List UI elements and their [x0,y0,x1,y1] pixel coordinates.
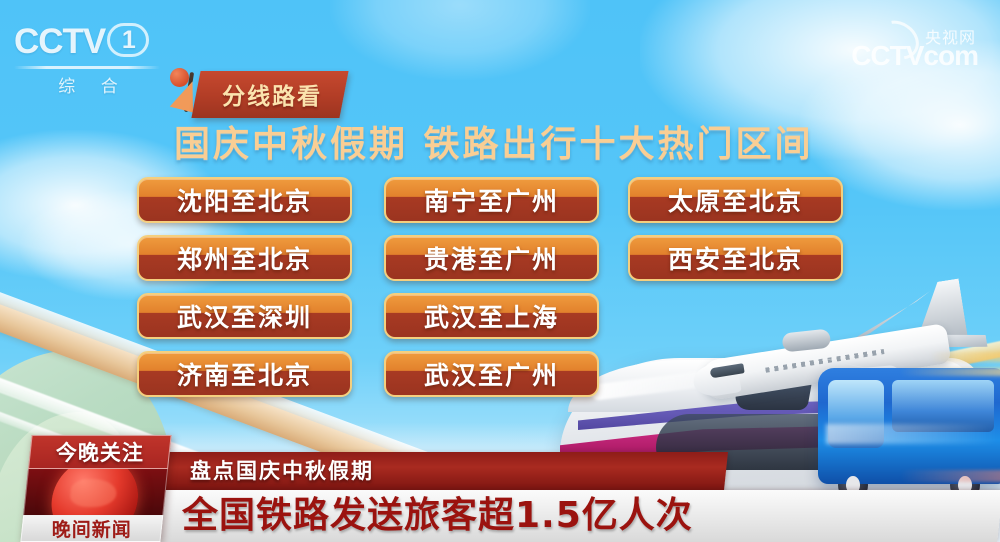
route-pill-8[interactable]: 武汉至上海 [384,293,599,339]
route-pill-1[interactable]: 沈阳至北京 [137,177,352,223]
route-label: 西安至北京 [668,240,803,276]
program-tag: 今晚关注 [28,435,172,469]
lower-third-subhead-bar: 盘点国庆中秋假期 [164,452,728,490]
route-pill-4[interactable]: 郑州至北京 [137,235,352,281]
program-name-label: 晚间新闻 [52,515,132,542]
cctv1-channel-logo: CCTV1 综 合 [14,22,164,88]
logo-underline [14,66,160,69]
route-pill-7[interactable]: 武汉至深圳 [137,293,352,339]
program-name: 晚间新闻 [20,515,163,542]
broadcast-screen: CCTV1 综 合 央视网 CCTVcom 分线路看 国庆中秋假期 铁路出行十大… [0,0,1000,542]
route-label: 武汉至广州 [424,356,559,392]
globe-icon [23,469,168,515]
cctv-wordmark: CCTV [14,22,105,61]
program-identity-block: 今晚关注 晚间新闻 [20,435,171,542]
lower-third-headline-bar: 全国铁路发送旅客超1.5亿人次 [157,490,1000,542]
channel-subtitle: 综 合 [14,72,164,97]
lower-third-headline: 全国铁路发送旅客超1.5亿人次 [160,490,1000,542]
route-pill-3[interactable]: 太原至北京 [628,177,843,223]
route-pill-2[interactable]: 南宁至广州 [384,177,599,223]
route-label: 南宁至广州 [424,182,559,218]
watermark-mark: CCTVcom [851,40,978,72]
channel-number: 1 [107,23,149,57]
route-label: 武汉至深圳 [177,298,312,334]
route-label: 武汉至上海 [424,298,559,334]
route-label: 郑州至北京 [177,240,312,276]
lower-third-subhead: 盘点国庆中秋假期 [166,452,726,490]
cctv-com-watermark: 央视网 CCTVcom [798,22,978,72]
route-label: 沈阳至北京 [177,182,312,218]
page-title: 国庆中秋假期 铁路出行十大热门区间 [174,115,814,167]
route-label: 贵港至广州 [424,240,559,276]
route-label: 太原至北京 [668,182,803,218]
route-pill-5[interactable]: 贵港至广州 [384,235,599,281]
section-flag-label: 分线路看 [222,77,322,111]
route-pill-9[interactable]: 济南至北京 [137,351,352,397]
route-pill-6[interactable]: 西安至北京 [628,235,843,281]
program-tag-label: 今晚关注 [56,437,144,467]
route-label: 济南至北京 [177,356,312,392]
route-pill-10[interactable]: 武汉至广州 [384,351,599,397]
section-flag-banner: 分线路看 [191,71,348,118]
